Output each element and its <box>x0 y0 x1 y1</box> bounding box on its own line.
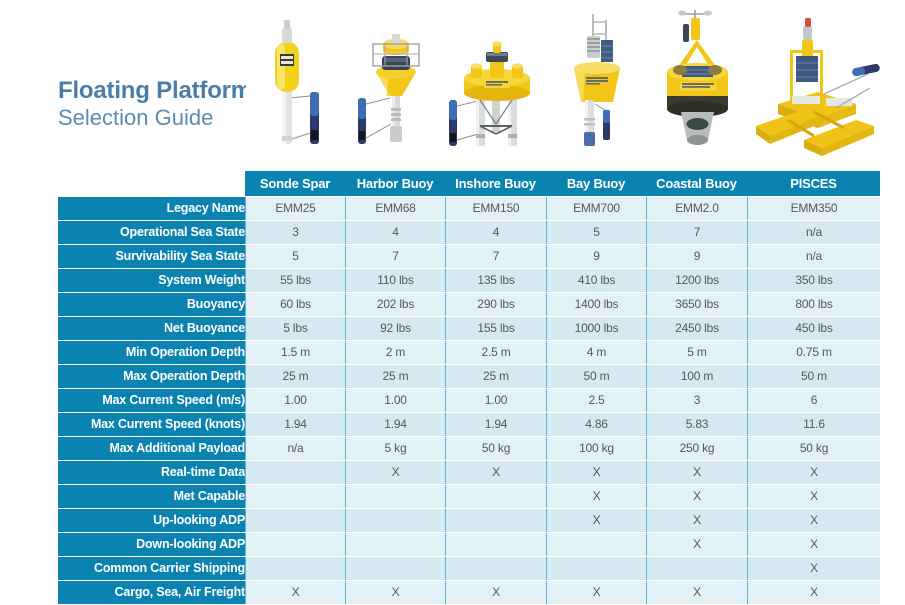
table-header-row: Sonde Spar Harbor Buoy Inshore Buoy Bay … <box>58 171 880 196</box>
row-label: Min Operation Depth <box>58 341 245 364</box>
table-cell <box>546 533 646 556</box>
table-cell <box>445 533 546 556</box>
row-label: Max Additional Payload <box>58 437 245 460</box>
table-cell: X <box>646 533 747 556</box>
table-cell: 1200 lbs <box>646 269 747 292</box>
row-label: Cargo, Sea, Air Freight <box>58 581 245 604</box>
table-row: Cargo, Sea, Air FreightXXXXXX <box>58 581 880 604</box>
table-cell: 7 <box>345 245 445 268</box>
table-cell: 3 <box>646 389 747 412</box>
table-cell: 450 lbs <box>747 317 880 340</box>
table-cell: EMM150 <box>445 197 546 220</box>
spec-table: Sonde Spar Harbor Buoy Inshore Buoy Bay … <box>58 170 880 605</box>
table-cell: n/a <box>245 437 345 460</box>
bay-buoy-photo <box>547 0 647 170</box>
table-cell: 1.5 m <box>245 341 345 364</box>
table-row: Operational Sea State34457n/a <box>58 221 880 244</box>
table-cell: X <box>747 509 880 532</box>
table-row: Legacy NameEMM25EMM68EMM150EMM700EMM2.0E… <box>58 197 880 220</box>
table-cell <box>445 509 546 532</box>
table-cell: X <box>546 581 646 604</box>
table-cell <box>245 533 345 556</box>
table-cell: 1.94 <box>245 413 345 436</box>
row-label: Met Capable <box>58 485 245 508</box>
table-cell: X <box>345 461 445 484</box>
table-cell: X <box>646 581 747 604</box>
table-cell: 25 m <box>245 365 345 388</box>
row-label: Legacy Name <box>58 197 245 220</box>
row-label: Real-time Data <box>58 461 245 484</box>
table-cell: X <box>747 485 880 508</box>
header-corner-blank <box>58 171 245 196</box>
coastal-buoy-photo <box>647 0 748 170</box>
table-row: Max Current Speed (m/s)1.001.001.002.536 <box>58 389 880 412</box>
table-cell: 4 <box>345 221 445 244</box>
table-cell <box>245 557 345 580</box>
table-cell: X <box>646 461 747 484</box>
table-cell: 25 m <box>345 365 445 388</box>
column-header-inshore-buoy[interactable]: Inshore Buoy <box>445 171 546 196</box>
row-label: Down-looking ADP <box>58 533 245 556</box>
table-cell: 135 lbs <box>445 269 546 292</box>
table-row: Down-looking ADPXX <box>58 533 880 556</box>
table-cell <box>445 485 546 508</box>
row-label: Net Buoyance <box>58 317 245 340</box>
table-cell: X <box>445 461 546 484</box>
table-cell: 5.83 <box>646 413 747 436</box>
table-cell: X <box>646 509 747 532</box>
table-cell: 3 <box>245 221 345 244</box>
floating-platform-selection-guide: Floating Platform Selection Guide <box>0 0 905 587</box>
table-cell <box>245 461 345 484</box>
table-cell: 5 lbs <box>245 317 345 340</box>
table-cell: EMM350 <box>747 197 880 220</box>
spec-table-body: Legacy NameEMM25EMM68EMM150EMM700EMM2.0E… <box>58 197 880 604</box>
table-cell <box>546 557 646 580</box>
table-cell: 1400 lbs <box>546 293 646 316</box>
table-cell: 290 lbs <box>445 293 546 316</box>
row-label: System Weight <box>58 269 245 292</box>
table-cell: 6 <box>747 389 880 412</box>
table-cell: X <box>445 581 546 604</box>
table-cell: 202 lbs <box>345 293 445 316</box>
harbor-buoy-photo <box>346 0 446 170</box>
table-cell: 50 m <box>747 365 880 388</box>
table-cell: X <box>345 581 445 604</box>
table-cell: 9 <box>646 245 747 268</box>
column-header-pisces[interactable]: PISCES <box>747 171 880 196</box>
table-cell <box>445 557 546 580</box>
table-cell: 55 lbs <box>245 269 345 292</box>
table-cell: X <box>646 485 747 508</box>
table-cell: 7 <box>445 245 546 268</box>
table-cell: 60 lbs <box>245 293 345 316</box>
table-cell: 0.75 m <box>747 341 880 364</box>
table-cell <box>345 533 445 556</box>
row-label: Max Current Speed (m/s) <box>58 389 245 412</box>
table-cell: X <box>546 509 646 532</box>
row-label: Max Operation Depth <box>58 365 245 388</box>
table-cell: 410 lbs <box>546 269 646 292</box>
table-cell: EMM68 <box>345 197 445 220</box>
table-row: Net Buoyance5 lbs92 lbs155 lbs1000 lbs24… <box>58 317 880 340</box>
table-cell <box>245 485 345 508</box>
column-header-bay-buoy[interactable]: Bay Buoy <box>546 171 646 196</box>
table-cell: 350 lbs <box>747 269 880 292</box>
table-row: Buoyancy60 lbs202 lbs290 lbs1400 lbs3650… <box>58 293 880 316</box>
table-cell: X <box>747 533 880 556</box>
table-cell <box>345 557 445 580</box>
table-cell <box>345 485 445 508</box>
table-row: Survivability Sea State57799n/a <box>58 245 880 268</box>
table-cell: 5 <box>546 221 646 244</box>
row-label: Up-looking ADP <box>58 509 245 532</box>
table-cell: EMM25 <box>245 197 345 220</box>
table-cell: 1.00 <box>345 389 445 412</box>
table-row: Min Operation Depth1.5 m2 m2.5 m4 m5 m0.… <box>58 341 880 364</box>
column-header-sonde-spar[interactable]: Sonde Spar <box>245 171 345 196</box>
inshore-buoy-photo <box>446 0 547 170</box>
table-cell: 5 kg <box>345 437 445 460</box>
table-cell: EMM2.0 <box>646 197 747 220</box>
table-cell: X <box>546 461 646 484</box>
column-header-harbor-buoy[interactable]: Harbor Buoy <box>345 171 445 196</box>
table-cell: 4 <box>445 221 546 244</box>
table-cell: 4.86 <box>546 413 646 436</box>
table-cell: 25 m <box>445 365 546 388</box>
table-cell: X <box>747 557 880 580</box>
table-row: Up-looking ADPXXX <box>58 509 880 532</box>
table-row: Max Additional Payloadn/a5 kg50 kg100 kg… <box>58 437 880 460</box>
table-cell: X <box>245 581 345 604</box>
table-row: Met CapableXXX <box>58 485 880 508</box>
table-cell: 50 m <box>546 365 646 388</box>
table-cell: X <box>747 461 880 484</box>
table-cell: 5 m <box>646 341 747 364</box>
row-label: Survivability Sea State <box>58 245 245 268</box>
table-cell: 50 kg <box>747 437 880 460</box>
table-cell: 1.94 <box>445 413 546 436</box>
column-header-coastal-buoy[interactable]: Coastal Buoy <box>646 171 747 196</box>
table-cell <box>345 509 445 532</box>
table-cell: X <box>747 581 880 604</box>
table-cell: 4 m <box>546 341 646 364</box>
table-cell: 2 m <box>345 341 445 364</box>
table-cell <box>245 509 345 532</box>
table-row: Max Current Speed (knots)1.941.941.944.8… <box>58 413 880 436</box>
table-cell <box>646 557 747 580</box>
sonde-spar-photo <box>246 0 346 170</box>
table-cell: 50 kg <box>445 437 546 460</box>
table-cell: X <box>546 485 646 508</box>
table-cell: 110 lbs <box>345 269 445 292</box>
table-cell: 800 lbs <box>747 293 880 316</box>
table-cell: 1.00 <box>445 389 546 412</box>
table-cell: 2.5 m <box>445 341 546 364</box>
table-cell: 100 m <box>646 365 747 388</box>
row-label: Buoyancy <box>58 293 245 316</box>
table-cell: 1000 lbs <box>546 317 646 340</box>
table-cell: EMM700 <box>546 197 646 220</box>
table-cell: 5 <box>245 245 345 268</box>
table-cell: 2450 lbs <box>646 317 747 340</box>
table-cell: 11.6 <box>747 413 880 436</box>
product-photo-strip <box>246 0 905 170</box>
row-label: Max Current Speed (knots) <box>58 413 245 436</box>
row-label: Operational Sea State <box>58 221 245 244</box>
table-cell: n/a <box>747 221 880 244</box>
table-row: Real-time DataXXXXX <box>58 461 880 484</box>
table-cell: 1.00 <box>245 389 345 412</box>
table-cell: 9 <box>546 245 646 268</box>
row-label: Common Carrier Shipping <box>58 557 245 580</box>
table-cell: 250 kg <box>646 437 747 460</box>
table-cell: 100 kg <box>546 437 646 460</box>
pisces-photo <box>748 0 881 170</box>
table-row: System Weight55 lbs110 lbs135 lbs410 lbs… <box>58 269 880 292</box>
table-row: Common Carrier ShippingX <box>58 557 880 580</box>
table-cell: 2.5 <box>546 389 646 412</box>
table-cell: 1.94 <box>345 413 445 436</box>
table-row: Max Operation Depth25 m25 m25 m50 m100 m… <box>58 365 880 388</box>
spec-table-wrap: Sonde Spar Harbor Buoy Inshore Buoy Bay … <box>58 170 880 605</box>
table-cell: 3650 lbs <box>646 293 747 316</box>
table-cell: n/a <box>747 245 880 268</box>
table-cell: 155 lbs <box>445 317 546 340</box>
table-cell: 7 <box>646 221 747 244</box>
table-cell: 92 lbs <box>345 317 445 340</box>
